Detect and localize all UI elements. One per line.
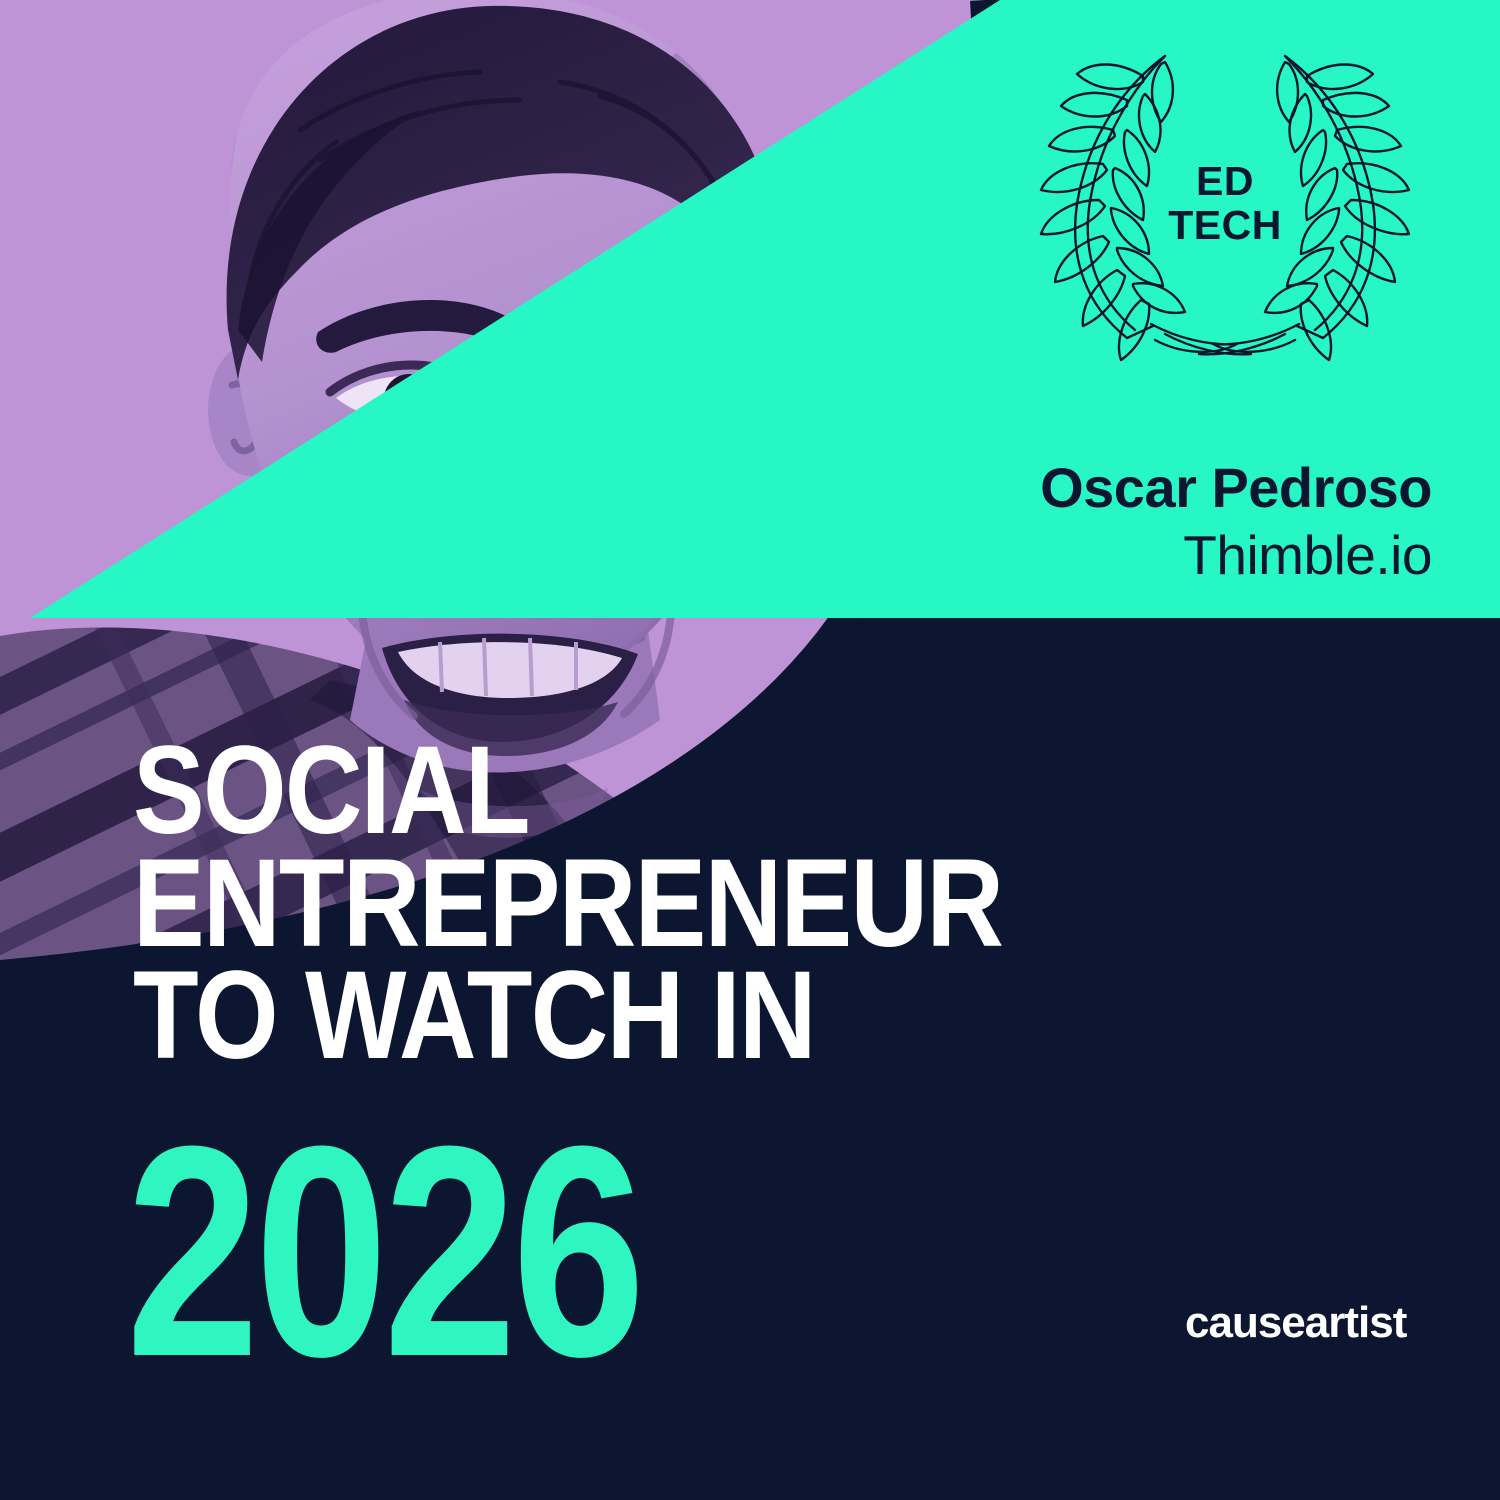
headline-year: 2026 [126, 1122, 641, 1380]
headline-line-2: ENTREPRENEUR [133, 848, 1251, 961]
headline-line-3: TO WATCH IN [133, 960, 1251, 1073]
award-panel-content: ED TECH Oscar Pedroso Thimble.io [960, 0, 1500, 618]
award-category-line-2: TECH [1168, 203, 1282, 247]
page-title: SOCIAL ENTREPRENEUR TO WATCH IN [133, 735, 1251, 1073]
award-category-line-1: ED [1196, 159, 1254, 203]
brand-logo: causeartist [1185, 1298, 1406, 1348]
award-category: ED TECH [1015, 38, 1435, 368]
honoree-name: Oscar Pedroso [1040, 455, 1432, 520]
poster-canvas: ED TECH Oscar Pedroso Thimble.io SOCIAL … [0, 0, 1500, 1500]
headline-line-1: SOCIAL [133, 735, 1251, 848]
honoree-company: Thimble.io [1183, 523, 1432, 587]
